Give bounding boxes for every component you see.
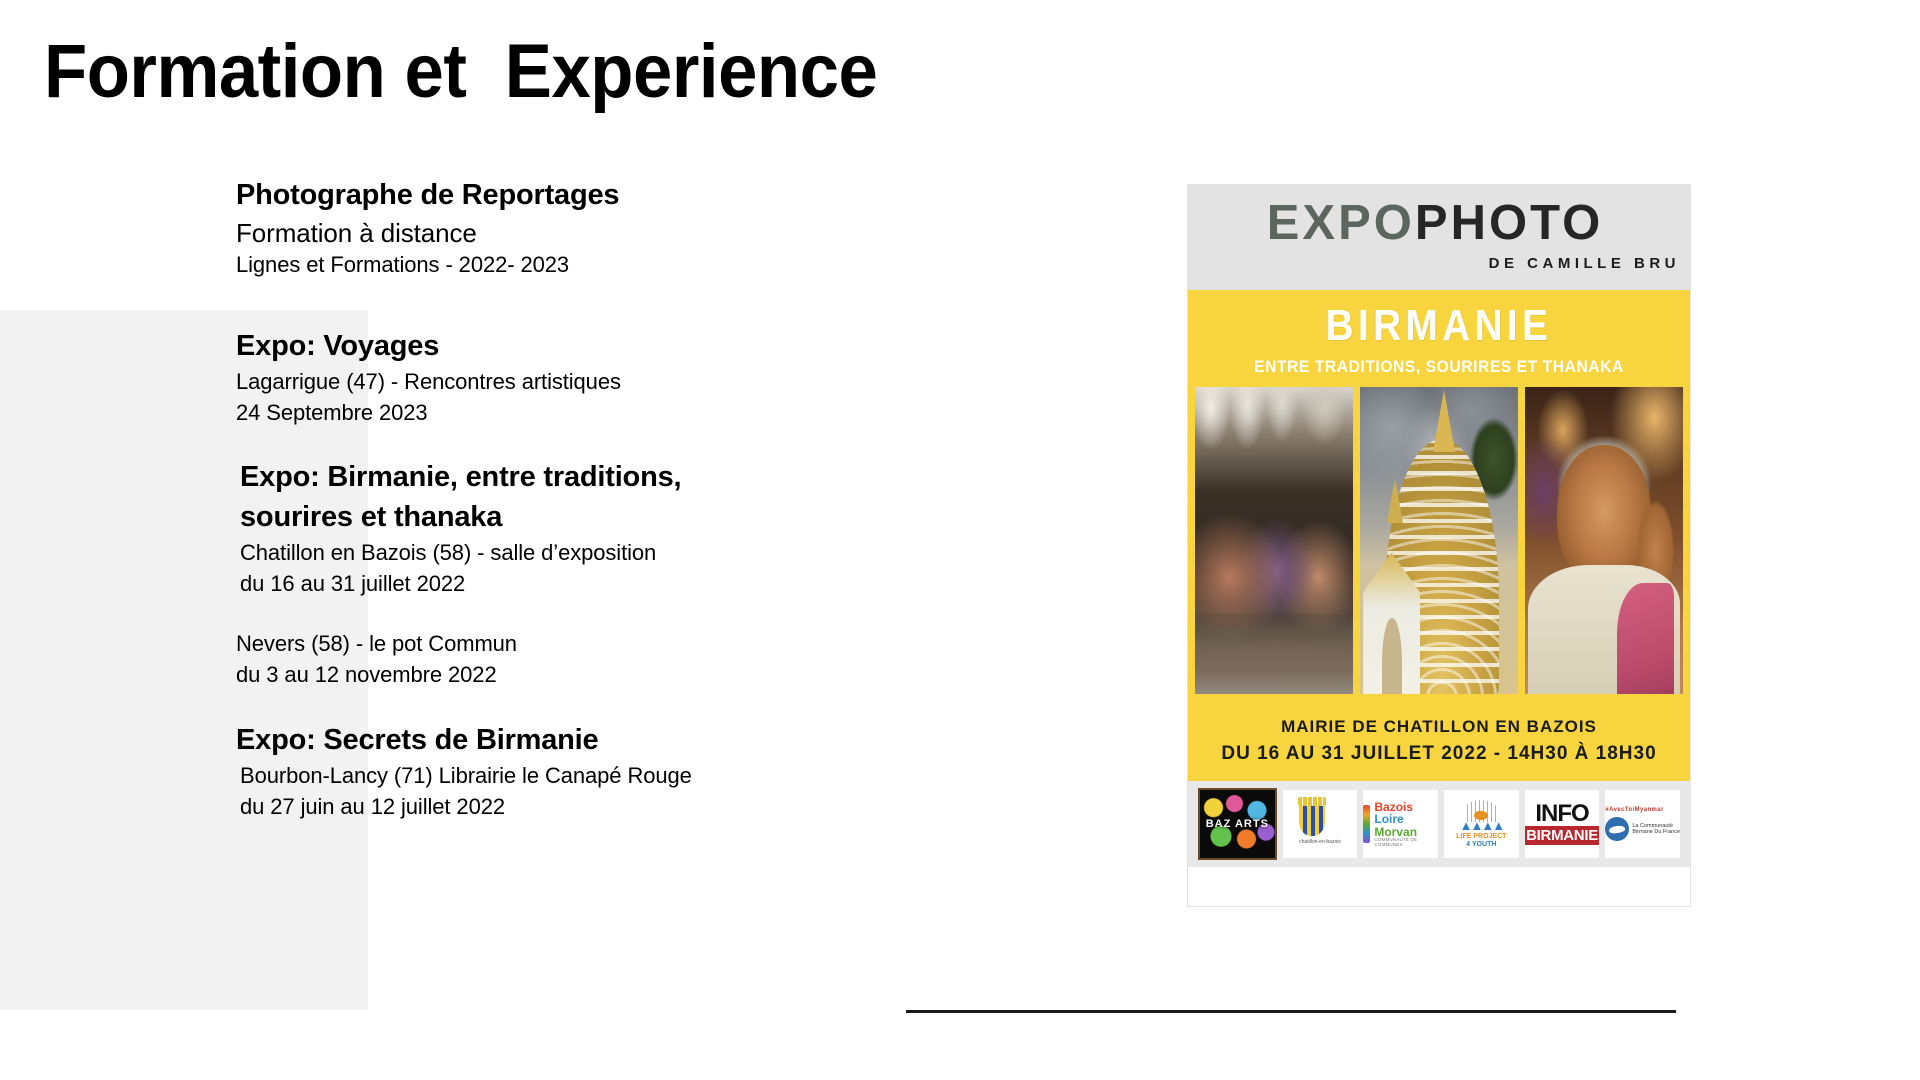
sponsor-label-line2: BIRMANIE — [1525, 826, 1600, 845]
sponsor-logo-life-project-4-youth: ▲▲▲▲ LIFE PROJECT 4 YOUTH — [1444, 790, 1519, 858]
experience-entry: Expo: Voyages Lagarrigue (47) - Rencontr… — [236, 327, 936, 428]
entry-detail-line: Chatillon en Bazois (58) - salle d’expos… — [240, 538, 936, 569]
sponsor-label-line2: Loire — [1374, 813, 1438, 826]
entry-title-continued: sourires et thanaka — [240, 498, 936, 538]
spacer — [236, 691, 936, 721]
entry-detail-line: Bourbon-Lancy (71) Librairie le Canapé R… — [236, 761, 936, 792]
entry-detail-line: Lagarrigue (47) - Rencontres artistiques — [236, 367, 936, 398]
poster-title-band: BIRMANIE ENTRE TRADITIONS, SOURIRES ET T… — [1188, 290, 1690, 387]
poster-logo: EXPOPHOTO — [1188, 199, 1682, 248]
slide-root: Formation et Experience Photographe de R… — [0, 0, 1920, 1080]
sponsor-logo-avectoimyanmar: #AvecToiMyanmar La Communauté Birmane Du… — [1605, 790, 1680, 858]
entry-detail-line: Nevers (58) - le pot Commun — [236, 629, 936, 660]
poster-sponsor-strip: BAZ ARTS chatillon-en-bazois Bazois Loir… — [1188, 781, 1690, 867]
experience-entry: Expo: Birmanie, entre traditions, sourir… — [236, 458, 936, 599]
poster-band-title: BIRMANIE — [1218, 304, 1660, 348]
exhibition-poster: EXPOPHOTO DE CAMILLE BRU BIRMANIE ENTRE … — [1188, 185, 1690, 906]
sponsor-label-line4: COMMUNAUTÉ DE COMMUNES — [1374, 838, 1438, 847]
poster-venue-block: MAIRIE DE CHATILLON EN BAZOIS DU 16 AU 3… — [1188, 703, 1690, 781]
poster-venue: MAIRIE DE CHATILLON EN BAZOIS — [1188, 715, 1690, 740]
birmane-france-icon — [1605, 817, 1629, 841]
sponsor-label: La Communauté Birmane Du France — [1632, 823, 1680, 835]
poster-logo-photo: PHOTO — [1415, 196, 1603, 250]
entry-detail-line: du 3 au 12 novembre 2022 — [236, 660, 936, 691]
sponsor-hashtag: #AvecToiMyanmar — [1605, 807, 1680, 814]
poster-dates: DU 16 AU 31 JUILLET 2022 - 14H30 À 18H30 — [1188, 740, 1690, 768]
poster-band-subtitle: ENTRE TRADITIONS, SOURIRES ET THANAKA — [1208, 358, 1670, 375]
entry-detail-line: du 27 juin au 12 juillet 2022 — [236, 792, 936, 823]
people-icon: ▲▲▲▲ — [1456, 819, 1506, 833]
portrait-scarf — [1617, 583, 1674, 694]
poster-byline: DE CAMILLE BRU — [1489, 255, 1680, 272]
experience-entry: Nevers (58) - le pot Commun du 3 au 12 n… — [236, 629, 936, 691]
poster-photo-woman — [1525, 387, 1683, 694]
experience-entry: Expo: Secrets de Birmanie Bourbon-Lancy … — [236, 721, 936, 822]
sponsor-label: chatillon-en-bazois — [1299, 839, 1341, 845]
spacer — [236, 281, 936, 327]
entry-detail-line: 24 Septembre 2023 — [236, 398, 936, 429]
pagoda-spire — [1433, 390, 1455, 452]
sponsor-logo-bazarts: BAZ ARTS — [1198, 788, 1277, 860]
horizontal-rule — [906, 1010, 1676, 1013]
entry-title: Expo: Voyages — [236, 327, 936, 367]
entry-detail-line: du 16 au 31 juillet 2022 — [240, 569, 936, 600]
sponsor-label-line2: 4 YOUTH — [1456, 841, 1506, 849]
experience-entry: Photographe de Reportages Formation à di… — [236, 176, 936, 281]
pagoda-small-spire — [1387, 479, 1403, 523]
crest-icon — [1299, 804, 1325, 836]
sponsor-label: BAZ ARTS — [1206, 818, 1269, 830]
entry-subtitle: Formation à distance — [236, 216, 936, 251]
poster-header: EXPOPHOTO DE CAMILLE BRU — [1188, 185, 1690, 290]
sponsor-label-line1: LIFE PROJECT — [1456, 833, 1506, 841]
poster-logo-expo: EXPO — [1267, 196, 1415, 250]
poster-photo-pagoda — [1360, 387, 1518, 694]
entry-title: Photographe de Reportages — [236, 176, 936, 216]
sponsor-logo-bazois-loire-morvan: Bazois Loire Morvan COMMUNAUTÉ DE COMMUN… — [1363, 790, 1438, 858]
rainbow-bar-icon — [1363, 805, 1370, 843]
experience-list: Photographe de Reportages Formation à di… — [236, 176, 936, 822]
entry-title: Expo: Birmanie, entre traditions, — [240, 458, 936, 498]
poster-photo-strip — [1188, 387, 1690, 703]
spacer — [236, 428, 936, 458]
page-title: Formation et Experience — [44, 32, 877, 112]
sponsor-logo-info-birmanie: INFO BIRMANIE — [1525, 790, 1600, 858]
spacer — [236, 599, 936, 629]
sponsor-logo-chatillon: chatillon-en-bazois — [1283, 790, 1358, 858]
portrait-face — [1557, 445, 1652, 583]
entry-detail-line: Lignes et Formations - 2022- 2023 — [236, 250, 936, 281]
entry-title: Expo: Secrets de Birmanie — [236, 721, 936, 761]
poster-photo-children — [1195, 387, 1353, 694]
sponsor-label-line1: INFO — [1525, 803, 1600, 825]
